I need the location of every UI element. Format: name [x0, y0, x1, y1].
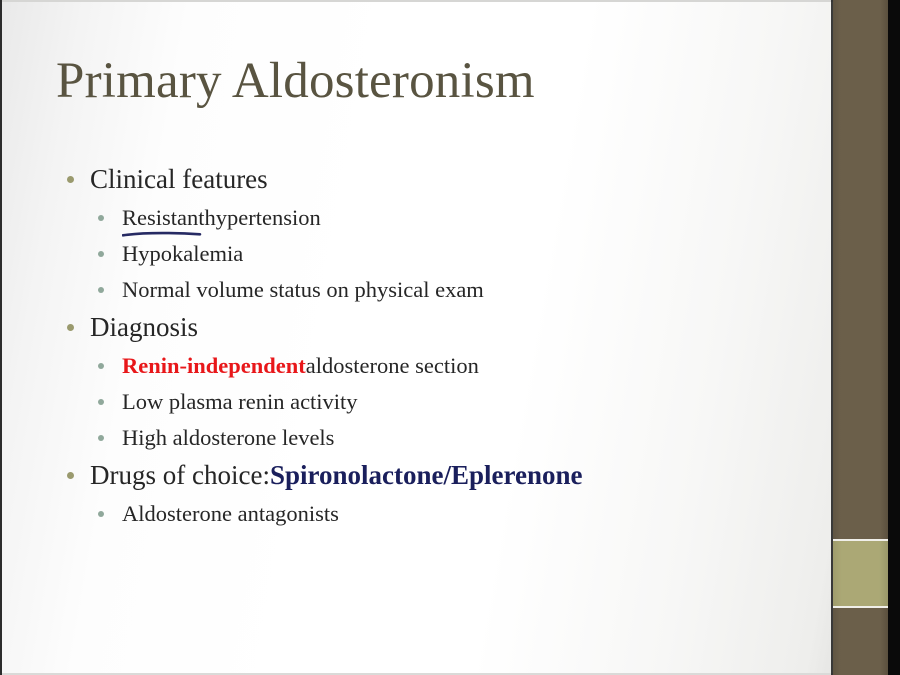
slide-top-border [0, 0, 833, 2]
bullet-hypokalemia: Hypokalemia [60, 236, 800, 272]
bullet-normal-volume-status: Normal volume status on physical exam [60, 272, 800, 308]
bullet-high-aldosterone: High aldosterone levels [60, 420, 800, 456]
rail-accent-shading [833, 541, 888, 607]
rail-gap-bottom [833, 606, 888, 608]
bullet-renin-independent-rest: aldosterone section [306, 355, 479, 378]
bullet-hypokalemia-label: Hypokalemia [122, 243, 243, 266]
bullet-dot-level1-icon [67, 176, 74, 183]
bullet-resistant-word: Resistant [122, 205, 205, 230]
bullet-dot-level2-icon [98, 435, 104, 441]
bullet-dot-level2-icon [98, 287, 104, 293]
slide-body-content: Clinical features Resistant hypertension… [60, 160, 800, 532]
bullet-renin-independent: Renin-independent aldosterone section [60, 348, 800, 384]
slide-right-letterbox [888, 0, 900, 675]
emphasis-renin-independent: Renin-independent [122, 355, 306, 378]
bullet-resistant-hypertension: Resistant hypertension [60, 200, 800, 236]
bullet-aldosterone-antagonists-label: Aldosterone antagonists [122, 503, 339, 526]
bullet-dot-level2-icon [98, 399, 104, 405]
bullet-clinical-features-label: Clinical features [90, 166, 268, 193]
bullet-low-plasma-renin: Low plasma renin activity [60, 384, 800, 420]
bullet-dot-level1-icon [67, 324, 74, 331]
bullet-drugs-of-choice-lead: Drugs of choice: [90, 462, 270, 489]
bullet-normal-volume-status-label: Normal volume status on physical exam [122, 279, 484, 302]
bullet-dot-level2-icon [98, 511, 104, 517]
bullet-diagnosis-label: Diagnosis [90, 314, 198, 341]
emphasis-spironolactone-eplerenone: Spironolactone/Eplerenone [270, 462, 583, 489]
slide-left-border [0, 0, 2, 675]
bullet-dot-level2-icon [98, 215, 104, 221]
bullet-diagnosis: Diagnosis [60, 308, 800, 346]
bullet-resistant-rest: hypertension [205, 207, 321, 230]
bullet-high-aldosterone-label: High aldosterone levels [122, 427, 334, 450]
annotated-term-wrapper: Resistant [122, 207, 205, 230]
bullet-clinical-features: Clinical features [60, 160, 800, 198]
bullet-dot-level1-icon [67, 472, 74, 479]
rail-accent-block [833, 541, 888, 607]
bullet-drugs-of-choice: Drugs of choice: Spironolactone/Eplereno… [60, 456, 800, 494]
bullet-low-plasma-renin-label: Low plasma renin activity [122, 391, 358, 414]
presentation-slide: Primary Aldosteronism Clinical features … [0, 0, 900, 675]
bullet-dot-level2-icon [98, 363, 104, 369]
bullet-dot-level2-icon [98, 251, 104, 257]
bullet-aldosterone-antagonists: Aldosterone antagonists [60, 496, 800, 532]
slide-title: Primary Aldosteronism [56, 54, 535, 109]
